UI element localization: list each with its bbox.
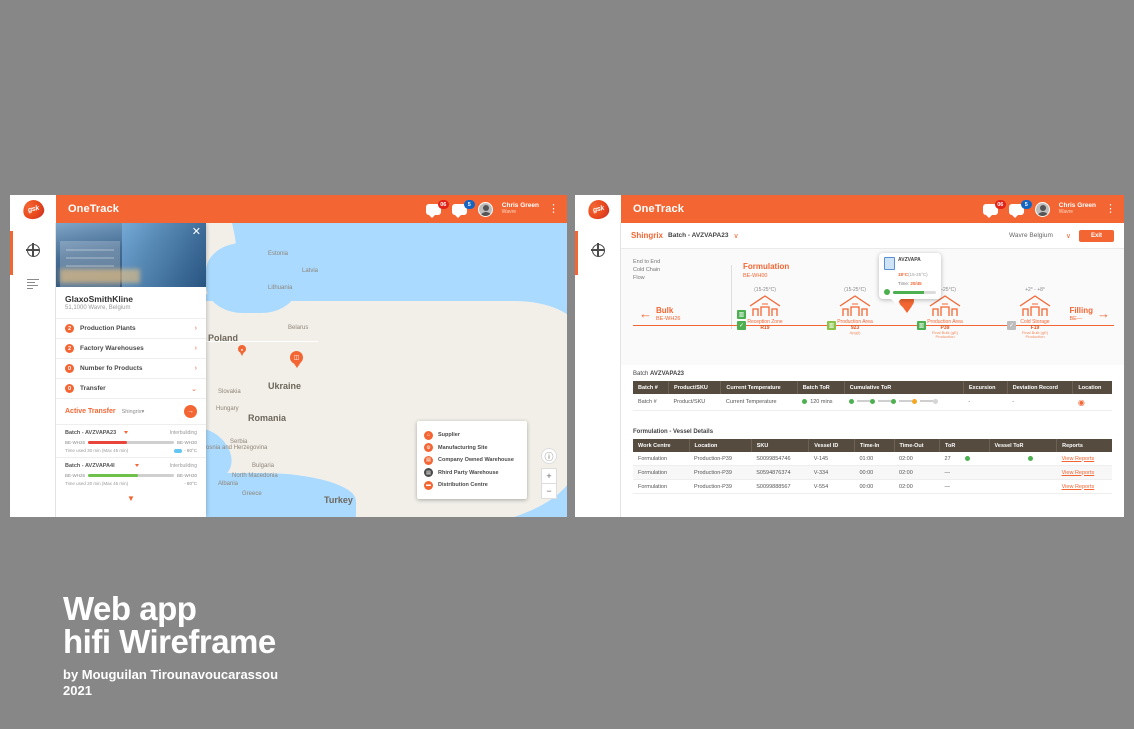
table-row[interactable]: Batch #Product/SKUCurrent Temperature120… [633,394,1112,411]
node-status-badge: ▥ [827,321,836,330]
globe-icon [592,244,605,257]
kpi-list: 2Production Plants›2Factory Warehouses›0… [56,318,206,398]
transfer-origin: BE-WH26 [65,440,85,445]
photo-building-block [66,249,114,251]
cell-time-out: 02:00 [894,466,940,480]
cell-tor: — [940,480,990,494]
table-header-row: Batch #Product/SKUCurrent TemperatureBat… [633,381,1112,394]
user-info[interactable]: Chris Green Wavre [1059,202,1096,215]
transfer-type: Interbuilding [170,430,197,436]
cell-vessel-id: V-334 [809,466,855,480]
flow-left-title: Bulk [656,307,680,316]
table-body: FormulationProduction-P39S0099854746V-14… [633,452,1112,494]
view-reports-link: View Reports [1062,470,1095,476]
transfer-progress-track [88,441,174,444]
node-sub: Final Bulk (gE) Production [927,331,963,340]
alerts-badge: 06 [995,200,1006,209]
node-status-badge: ✓ [737,321,746,330]
flow-divider [731,265,732,329]
warehouse-icon: ▤ [424,456,433,465]
kpi-row[interactable]: 2Factory Warehouses› [56,338,206,358]
photo-lighting-glow [60,269,140,283]
alerts-icon[interactable]: 06 [983,202,1000,216]
top-bar-actions: 06 5 Chris Green Wavre ⋮ [426,202,567,217]
top-bar-actions: 06 5 Chris Green Wavre ⋮ [983,202,1124,217]
transfer-position-marker [135,467,141,475]
status-dot [884,289,890,295]
node-sub: Final Bulk (gE) Production [1017,331,1053,340]
table-row[interactable]: FormulationProduction-P39S0099888567V-55… [633,480,1112,494]
transfer-position-marker [124,434,130,442]
kpi-label: Number fo Products [80,365,195,372]
sidebar-item-global-view[interactable] [10,233,56,267]
caption-line-2: hifi Wireframe [63,625,278,658]
third-party-warehouse-icon: ▤ [424,468,433,477]
transfer-progress-fill [88,474,138,477]
map-label: Estonia [268,251,288,257]
kpi-count: 0 [65,364,74,373]
app-title: OneTrack [68,203,119,215]
cell-time-out: 02:00 [894,480,940,494]
avatar[interactable] [478,202,493,217]
globe-icon [27,244,40,257]
transfer-progress-fill [88,441,127,444]
column-header: Batch # [633,381,668,394]
map-label: Turkey [324,495,353,505]
transfer-temperature: - 80°C [174,448,197,453]
flow-node[interactable]: (15-25°C)Production Area 923Apg(I) [837,287,873,335]
left-rail [575,223,621,517]
factory-icon: ⚙ [424,443,433,452]
kpi-label: Transfer [80,385,191,392]
cell-vessel-tor [989,452,1057,466]
kpi-label: Factory Warehouses [80,345,195,352]
cell-vessel-tor [989,480,1057,494]
legend-item[interactable]: ⚙Manufacturing Site [424,443,520,452]
tooltip-temp-range: (15-25°C) [908,272,928,277]
legend-item[interactable]: ⌂Supplier [424,431,520,440]
cell-sku: S0099854746 [751,452,809,466]
cell-sku: S0099888567 [751,480,809,494]
location-chevron-down-icon[interactable]: ∨ [1066,232,1071,240]
node-status-badge-secondary: ▥ [737,310,746,319]
map-label: Poland [208,333,238,343]
rail-active-indicator [575,231,578,275]
gsk-logo-mark: gsk [21,198,45,221]
map-label: Latvia [302,268,318,274]
temp-value: - 80°C [184,448,197,453]
view-reports-link: View Reports [1062,456,1095,462]
cell-time-in: 00:00 [854,480,894,494]
flow-right-end[interactable]: Filling BE— → [1069,307,1110,322]
warehouse-icon [1018,294,1052,316]
transfer-destination: BE-WH30 [177,440,197,445]
user-info[interactable]: Chris Green Wavre [502,202,539,215]
table-header-row: Work CentreLocationSKUVessel IDTime-InTi… [633,439,1112,452]
chevron-down-icon[interactable]: ∨ [733,232,738,240]
batch-label: Batch - AVZVAPA23 [668,232,728,239]
cell-reports[interactable]: View Reports [1057,466,1112,480]
table-row[interactable]: FormulationProduction-P39S0099854746V-14… [633,452,1112,466]
chevron-down-icon[interactable]: ▾ [141,409,144,415]
map-canvas[interactable]: ⛪ ● ● ● ▦ ⛪ ● ◫ IcelandEstoniaLithuaniaL… [56,223,567,517]
map-info-button[interactable]: ⓘ [541,448,557,464]
temp-indicator [174,449,182,453]
messages-icon[interactable]: 5 [452,202,469,216]
map-label: Romania [248,413,286,423]
map-label: Serbia [230,439,247,445]
node-label: Reception Zone R19 [747,319,783,331]
gsk-logo[interactable]: gsk [575,195,621,223]
cell-vessel-tor [989,466,1057,480]
legend-label: Manufacturing Site [438,445,488,451]
column-header: SKU [751,439,809,452]
transfer-card[interactable]: Batch - AVZVAPA23InterbuildingBE-WH26BE-… [56,424,206,457]
user-location: Wavre [1059,210,1096,216]
flow-node[interactable]: +2° - +8°Cold Storage F19Final Bulk (gE)… [1017,287,1053,340]
kebab-menu-icon[interactable]: ⋮ [1105,205,1116,213]
top-bar: gsk OneTrack 06 5 Chris Green Wavre ⋮ [10,195,567,223]
avatar[interactable] [1035,202,1050,217]
map-label: Albania [218,481,238,487]
cold-chain-flow-panel: End to End Cold Chain Flow ← Bulk BE-WH2… [621,249,1124,365]
cell-batch: Batch # [633,394,668,411]
cell-temperature: Current Temperature [721,394,797,411]
cell-time-in: 01:00 [854,452,894,466]
vessel-table-caption: Formulation - Vessel Details [633,423,1112,439]
arrow-left-icon: ← [639,309,652,319]
map-label: Lithuania [268,285,292,291]
messages-icon[interactable]: 5 [1009,202,1026,216]
column-header: Reports [1057,439,1112,452]
map-zoom-in-button[interactable]: + [541,468,557,484]
transfer-batch: Batch - AVZVAPA4I [65,463,170,469]
transfer-batch: Batch - AVZVAPA23 [65,430,170,436]
transfer-time: Time used 20 min (Max 45 min) [65,481,184,486]
route-segment [256,341,318,342]
tooltip-time-value: 20/45 [910,281,921,286]
column-header: Work Centre [633,439,689,452]
legend-label: Company Owned Warehouse [438,457,514,463]
product-filter-value[interactable]: Shingrix [122,409,142,415]
column-header: Deviation Record [1007,381,1073,394]
product-name: Shingrix [631,231,663,240]
column-header: Vessel ToR [989,439,1057,452]
sub-header-actions: Wavre Belgium ∨ Exit [1009,230,1114,242]
tooltip-temperature: 18°C [898,272,908,277]
messages-badge: 5 [1021,200,1032,209]
flow-stage-title: Formulation [743,263,789,272]
cell-work-centre: Formulation [633,480,689,494]
close-icon[interactable]: ✕ [192,227,201,237]
map-legend: ⌂Supplier⚙Manufacturing Site▤Company Own… [417,421,527,499]
transfer-card[interactable]: Batch - AVZVAPA4IInterbuildingBE-WH26BE-… [56,457,206,490]
cell-vessel-id: V-554 [809,480,855,494]
kpi-count: 2 [65,324,74,333]
cell-tor: — [940,466,990,480]
table-body: Batch #Product/SKUCurrent Temperature120… [633,394,1112,411]
map-label: North Macedonia [232,473,278,479]
column-header: Excursion [963,381,1007,394]
kebab-menu-icon[interactable]: ⋮ [548,205,559,213]
kpi-count: 2 [65,344,74,353]
page-title: GlaxoSmithKline [56,287,206,305]
transfer-destination: BE-WH30 [177,473,197,478]
column-header: Cumulative ToR [844,381,963,394]
vessel-tooltip: AVZVAPA 18°C(15-25°C) Time: 20/45 [879,253,941,299]
kpi-row[interactable]: 2Production Plants› [56,318,206,338]
chevron-icon[interactable]: › [195,325,197,332]
column-header: Product/SKU [668,381,720,394]
vial-icon [884,257,895,270]
temp-value: - 80°C [184,481,197,486]
gsk-logo-mark: gsk [586,198,610,221]
chevron-icon[interactable]: › [195,345,197,352]
transfer-time: Time used 30 min (Max 45 min) [65,448,174,453]
node-status-badge: ▥ [917,321,926,330]
legend-item[interactable]: ▬Distribution Centre [424,481,520,490]
list-icon [27,279,39,290]
column-header: Location [1073,381,1112,394]
column-header: ToR [940,439,990,452]
map-label: Bosnia and Herzegovina [202,445,267,451]
vessel-table-section: Formulation - Vessel Details Work Centre… [621,423,1124,494]
legend-label: Rhird Party Warehouse [438,470,499,476]
arrow-right-icon: → [1097,309,1110,319]
photo-building-block [66,257,114,259]
cell-excursion: - [963,394,1007,411]
map-label: Ukraine [268,381,301,391]
chevron-icon[interactable]: ⌄ [191,385,197,393]
flow-stage-sub: BE-WH00 [743,273,767,279]
flow-caption: End to End Cold Chain Flow [633,259,660,283]
cell-location: Production-P39 [689,452,751,466]
column-header: Time-In [854,439,894,452]
map-label: Bulgaria [252,463,274,469]
cell-cumulative-tor [844,394,963,411]
alerts-badge: 06 [438,200,449,209]
view-reports-link: View Reports [1062,484,1095,490]
transfer-progress-track [88,474,174,477]
cell-deviation: - [1007,394,1073,411]
map-controls: ⓘ + − [541,449,557,499]
rail-active-indicator [10,231,13,275]
node-temperature: (15-25°C) [747,287,783,293]
map-pin-node[interactable]: ● [238,345,246,356]
transfer-type: Interbuilding [170,463,197,469]
legend-label: Distribution Centre [438,482,488,488]
map-label: Belarus [288,325,308,331]
cell-location: Production-P39 [689,480,751,494]
flow-left-sub: BE-WH26 [656,316,680,322]
caption-year: 2021 [63,683,278,699]
batch-table: Batch #Product/SKUCurrent TemperatureBat… [633,381,1112,411]
user-location: Wavre [502,210,539,216]
node-status-badge: ✓ [1007,321,1016,330]
cell-reports[interactable]: View Reports [1057,452,1112,466]
cell-sku: S0594876374 [751,466,809,480]
legend-label: Supplier [438,432,460,438]
map-pin-distribution[interactable]: ◫ [290,351,303,368]
caption-author: by Mouguilan Tirounavoucarassou [63,667,278,683]
flow-node[interactable]: (15-25°C)Reception Zone R19 [747,287,783,331]
tooltip-name: AVZVAPA [898,257,928,263]
node-temperature: (15-25°C) [837,287,873,293]
gsk-logo[interactable]: gsk [10,195,56,223]
left-rail [10,223,56,517]
chevron-icon[interactable]: › [195,365,197,372]
batch-table-batch-id: AVZVAPA23 [650,371,684,377]
site-info-card: ✕ GlaxoSmithKline 51,1000 Wavre, Belgium… [56,223,206,517]
transfer-origin: BE-WH26 [65,473,85,478]
cell-sku: Product/SKU [668,394,720,411]
column-header: Vessel ID [809,439,855,452]
transfer-temperature: - 80°C [184,481,197,486]
active-transfer-title: Active Transfer [65,408,116,415]
transfer-list: Batch - AVZVAPA23InterbuildingBE-WH26BE-… [56,424,206,490]
sidebar-item-reports[interactable] [10,267,56,301]
cell-work-centre: Formulation [633,452,689,466]
warehouse-icon [748,294,782,316]
column-header: Time-Out [894,439,940,452]
map-screen: gsk OneTrack 06 5 Chris Green Wavre ⋮ [10,195,567,517]
node-sub: Apg(I) [837,331,873,335]
messages-badge: 5 [464,200,475,209]
kpi-row[interactable]: 0Number fo Products› [56,358,206,378]
map-label: Hungary [216,406,239,412]
column-header: Current Temperature [721,381,797,394]
go-button[interactable]: → [184,405,197,418]
caption-line-1: Web app [63,592,278,625]
app-title: OneTrack [633,203,684,215]
batch-sub-header: Shingrix Batch - AVZVAPA23 ∨ Wavre Belgi… [621,223,1124,249]
warehouse-icon [838,294,872,316]
cell-time-in: 00:00 [854,466,894,480]
cell-location[interactable]: ◉ [1073,394,1112,411]
show-more-icon[interactable]: ▼ [56,490,206,505]
map-zoom-out-button[interactable]: − [541,483,557,499]
cell-tor: 27 [940,452,990,466]
node-temperature: +2° - +8° [1017,287,1053,293]
exit-button[interactable]: Exit [1079,230,1114,242]
poster-caption: Web app hifi Wireframe by Mouguilan Tiro… [63,592,278,700]
cell-time-out: 02:00 [894,452,940,466]
legend-item[interactable]: ▤Rhird Party Warehouse [424,468,520,477]
map-label: Slovakia [218,389,241,395]
supplier-icon: ⌂ [424,431,433,440]
batch-table-caption: Batch AVZVAPA23 [633,365,1112,381]
kpi-label: Production Plants [80,325,195,332]
cell-work-centre: Formulation [633,466,689,480]
alerts-icon[interactable]: 06 [426,202,443,216]
location-selector-value[interactable]: Wavre Belgium [1009,232,1053,239]
flow-screen: gsk OneTrack 06 5 Chris Green Wavre ⋮ [575,195,1124,517]
site-address: 51,1000 Wavre, Belgium [56,305,206,318]
column-header: Location [689,439,751,452]
flow-right-title: Filling [1069,307,1093,316]
cell-batch-tor: 120 mins [797,394,844,411]
sidebar-item-global-view[interactable] [575,233,621,267]
batch-table-section: Batch AVZVAPA23 Batch #Product/SKUCurren… [621,365,1124,411]
tooltip-progress-bar [893,291,936,294]
photo-building-block [66,265,114,267]
flow-left-end[interactable]: ← Bulk BE-WH26 [639,307,680,322]
kpi-count: 0 [65,384,74,393]
table-row[interactable]: FormulationProduction-P39S0594876374V-33… [633,466,1112,480]
legend-item[interactable]: ▤Company Owned Warehouse [424,456,520,465]
kpi-row[interactable]: 0Transfer⌄ [56,378,206,398]
map-label: Greece [242,491,262,497]
column-header: Batch ToR [797,381,844,394]
flow-right-sub: BE— [1069,316,1093,322]
site-photo: ✕ [56,223,206,287]
vessel-table: Work CentreLocationSKUVessel IDTime-InTi… [633,439,1112,494]
distribution-icon: ▬ [424,481,433,490]
active-transfer-header: Active Transfer Shingrix ▾ → [56,398,206,424]
cell-location: Production-P39 [689,466,751,480]
cell-vessel-id: V-145 [809,452,855,466]
cell-reports[interactable]: View Reports [1057,480,1112,494]
tooltip-time: Time: 20/45 [898,281,928,286]
top-bar: gsk OneTrack 06 5 Chris Green Wavre ⋮ [575,195,1124,223]
